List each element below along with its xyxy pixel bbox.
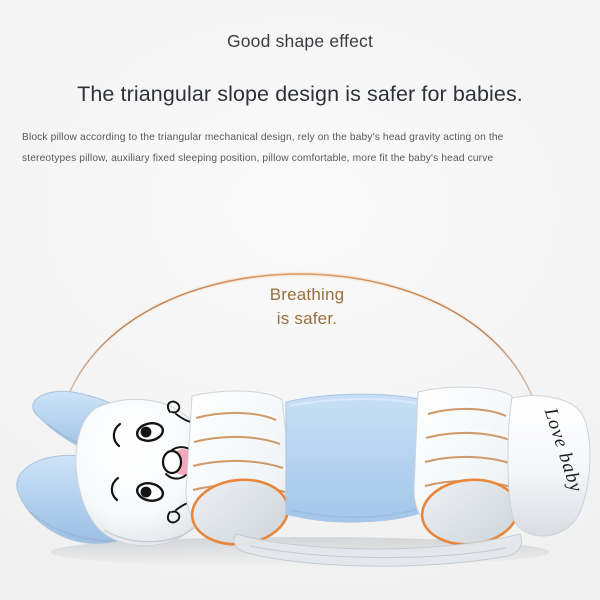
- product-image: Love baby: [0, 0, 600, 600]
- left-bolster: [186, 391, 292, 549]
- right-bolster: [414, 387, 521, 549]
- product-marketing-image: Good shape effect The triangular slope d…: [0, 0, 600, 600]
- right-end-cushion: Love baby: [508, 396, 590, 536]
- center-pillow: [286, 394, 424, 522]
